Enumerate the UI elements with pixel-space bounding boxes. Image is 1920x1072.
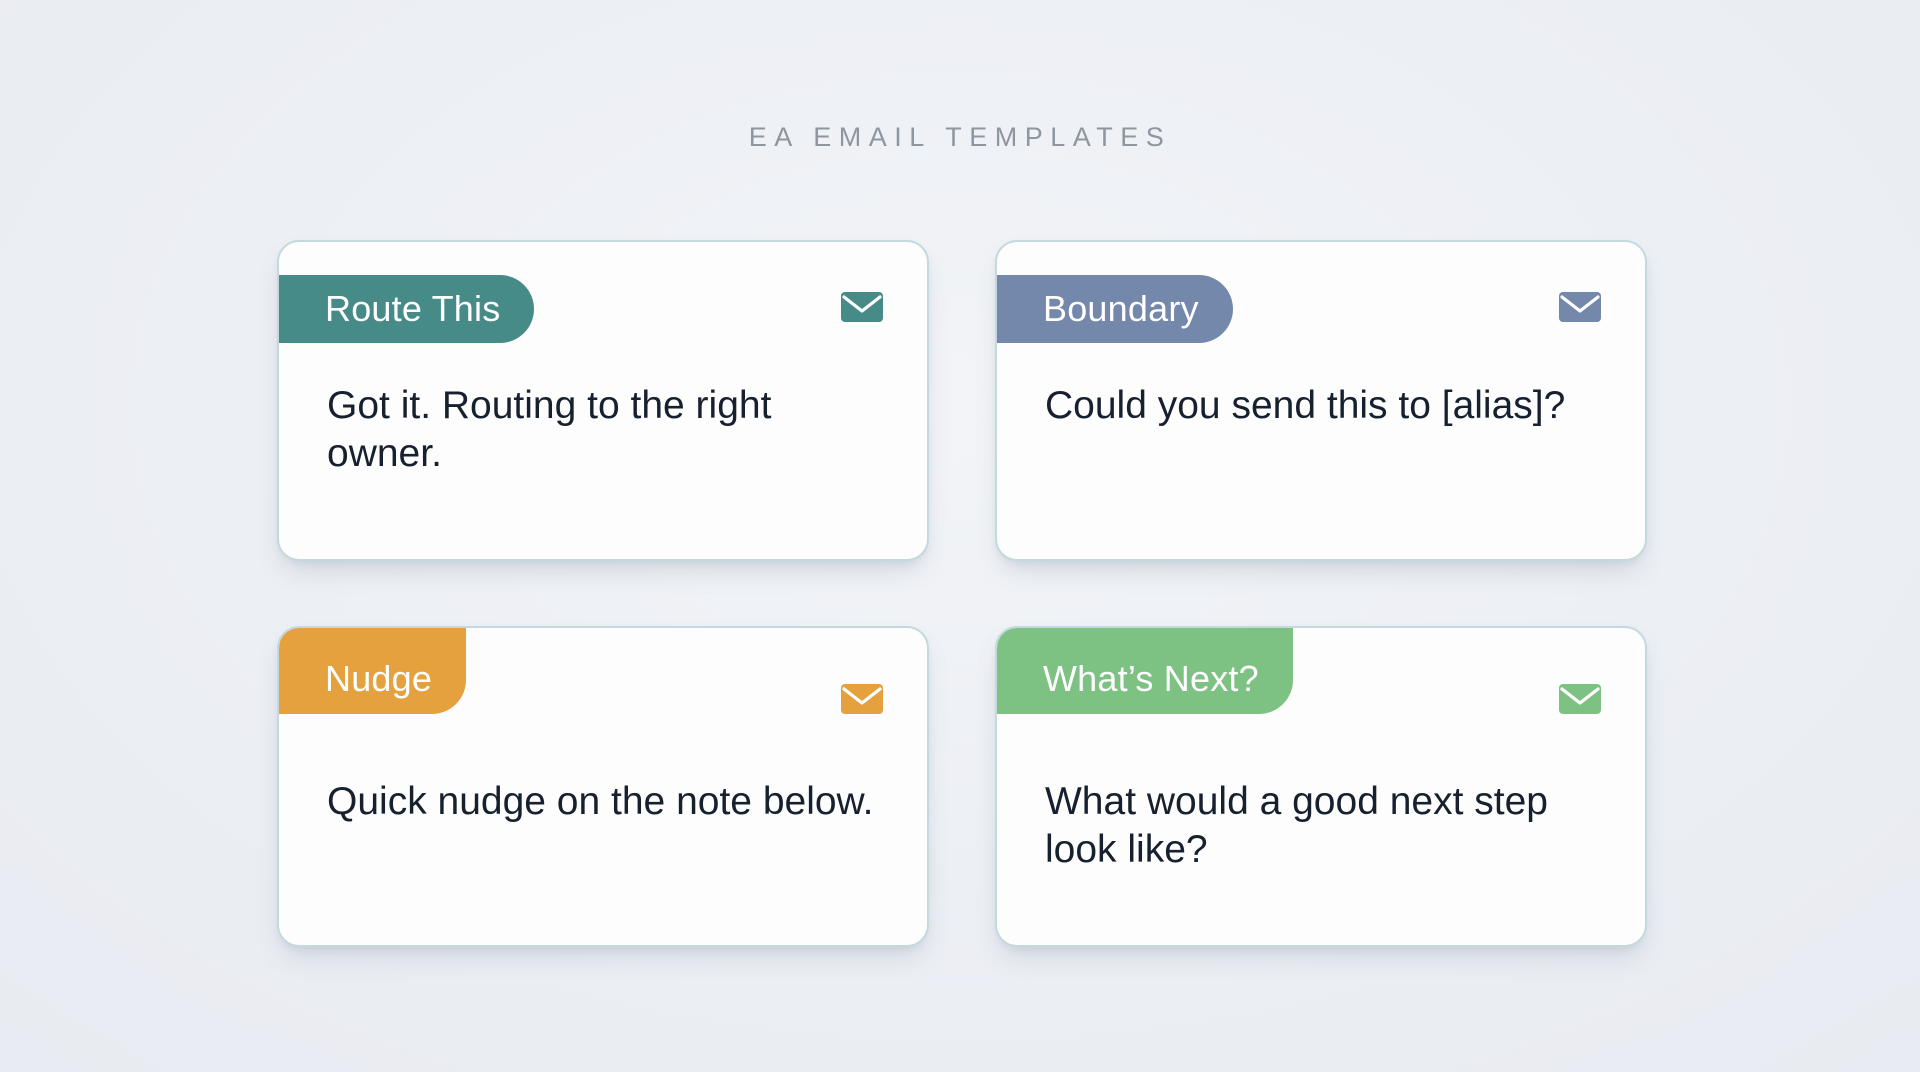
card-body-text: What would a good next step look like? <box>1045 778 1605 875</box>
card-body-text: Got it. Routing to the right owner. <box>327 382 887 479</box>
envelope-icon <box>841 684 883 714</box>
email-templates-board: EA Email Templates Route This Got it. Ro… <box>0 0 1920 1072</box>
badge-label: Boundary <box>1043 288 1199 330</box>
badge-label: Nudge <box>325 658 432 700</box>
badge-whats-next: What’s Next? <box>995 626 1293 714</box>
badge-route-this: Route This <box>277 275 534 343</box>
envelope-icon <box>1559 292 1601 322</box>
envelope-icon <box>841 292 883 322</box>
template-card-nudge[interactable]: Nudge Quick nudge on the note below. <box>277 626 929 947</box>
card-body-text: Quick nudge on the note below. <box>327 778 887 826</box>
badge-label: Route This <box>325 288 500 330</box>
card-body-text: Could you send this to [alias]? <box>1045 382 1605 430</box>
template-card-grid: Route This Got it. Routing to the right … <box>277 240 1647 947</box>
template-card-route-this[interactable]: Route This Got it. Routing to the right … <box>277 240 929 561</box>
envelope-icon <box>1559 684 1601 714</box>
badge-boundary: Boundary <box>995 275 1233 343</box>
badge-nudge: Nudge <box>277 626 466 714</box>
template-card-boundary[interactable]: Boundary Could you send this to [alias]? <box>995 240 1647 561</box>
template-card-whats-next[interactable]: What’s Next? What would a good next step… <box>995 626 1647 947</box>
badge-label: What’s Next? <box>1043 658 1259 700</box>
page-title: EA Email Templates <box>0 122 1920 153</box>
